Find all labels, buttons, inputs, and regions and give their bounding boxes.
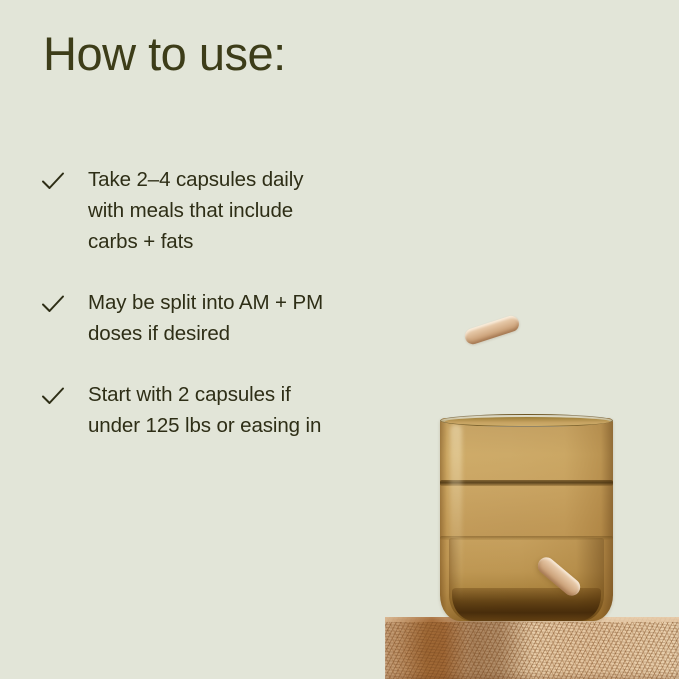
list-item-label: Take 2–4 capsules daily with meals that … [88, 164, 420, 257]
product-instructions-card: How to use: Take 2–4 capsules daily with… [0, 0, 679, 679]
check-icon [40, 169, 66, 195]
glass-base-shadow [452, 588, 601, 621]
list-item: Start with 2 capsules if under 125 lbs o… [40, 379, 420, 441]
glass-ridge [440, 536, 613, 540]
list-item: Take 2–4 capsules daily with meals that … [40, 164, 420, 257]
amber-glass-tumbler [440, 418, 613, 621]
floating-capsule [463, 314, 521, 347]
glass-rim-inner [445, 417, 610, 426]
glass-ridge [440, 480, 613, 486]
glass-highlight [450, 424, 462, 604]
product-photo [370, 290, 679, 679]
instruction-list: Take 2–4 capsules daily with meals that … [40, 164, 420, 471]
check-icon [40, 384, 66, 410]
list-item: May be split into AM + PM doses if desir… [40, 287, 420, 349]
cork-shadow [444, 617, 534, 679]
glass-rim [440, 414, 613, 427]
page-title: How to use: [43, 28, 286, 80]
check-icon [40, 292, 66, 318]
